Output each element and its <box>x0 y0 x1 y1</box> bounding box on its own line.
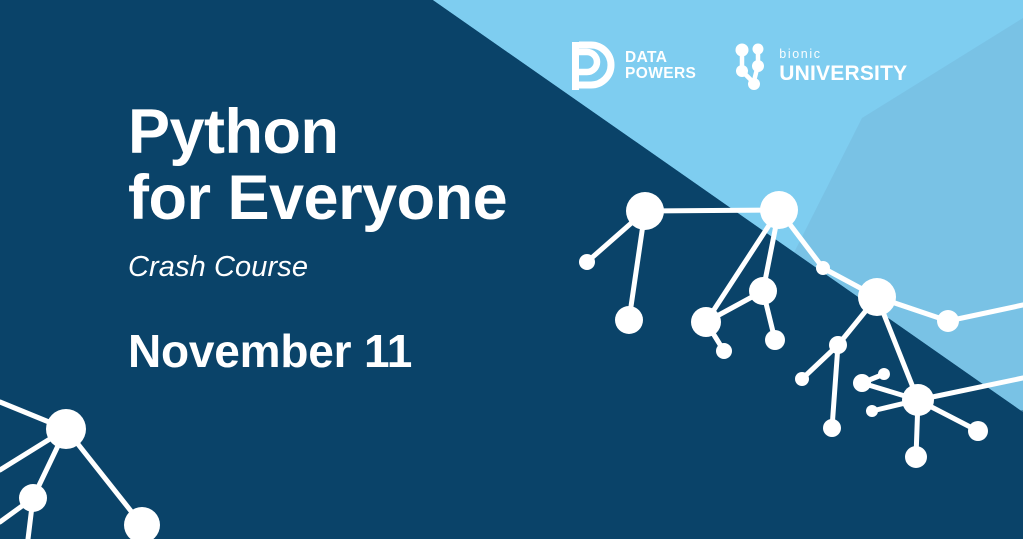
bionic-university-line2: UNIVERSITY <box>779 63 907 84</box>
event-date: November 11 <box>128 324 507 378</box>
title-line-1: Python <box>128 100 507 166</box>
data-powers-logo: DATA POWERS <box>570 38 696 94</box>
data-powers-line1: DATA <box>625 50 696 66</box>
subtitle: Crash Course <box>128 251 507 284</box>
event-poster: DATA POWERS bionic UNIVERSITY <box>0 0 1023 539</box>
headline-block: Python for Everyone Crash Course Novembe… <box>128 100 507 378</box>
bionic-university-logo: bionic UNIVERSITY <box>734 41 907 91</box>
data-powers-wordmark: DATA POWERS <box>625 50 696 82</box>
data-powers-p-logo-icon <box>570 38 616 94</box>
data-powers-line2: POWERS <box>625 66 696 82</box>
title-line-2: for Everyone <box>128 166 507 232</box>
bionic-university-line1: bionic <box>779 48 907 62</box>
bionic-university-molecule-logo-icon <box>734 41 770 91</box>
bionic-university-wordmark: bionic UNIVERSITY <box>779 48 907 84</box>
logo-bar: DATA POWERS bionic UNIVERSITY <box>570 38 907 94</box>
